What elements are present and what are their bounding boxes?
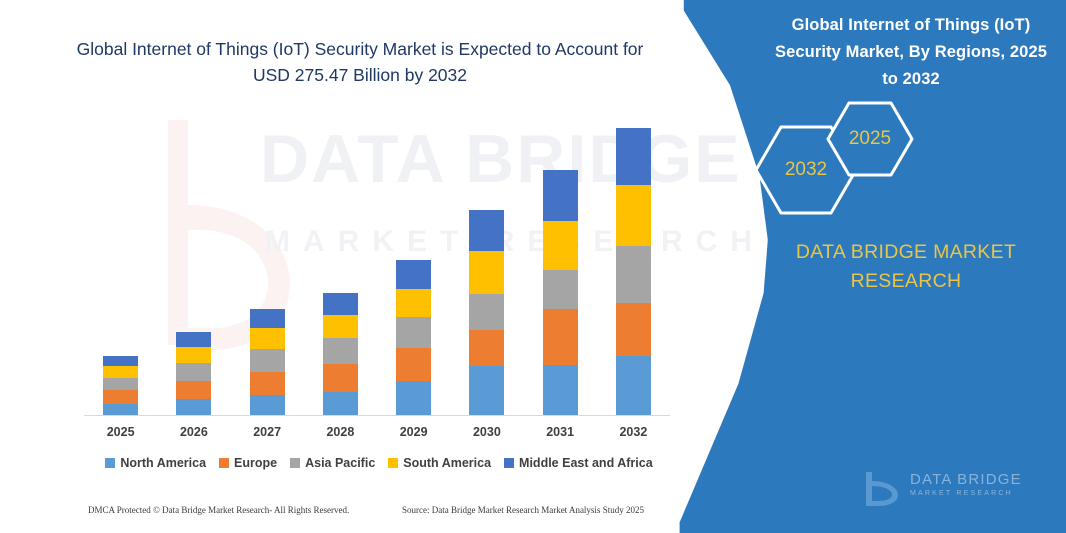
bar-column [307, 293, 373, 415]
hex-label-2025: 2025 [840, 128, 900, 150]
bar-segment [543, 365, 578, 415]
page-title: Global Internet of Things (IoT) Security… [60, 36, 660, 88]
dbmr-logo-text: DATA BRIDGE [910, 471, 1022, 488]
bar-segment [543, 270, 578, 309]
bar-segment [469, 210, 504, 251]
bar-segment [469, 251, 504, 293]
legend-swatch-icon [219, 458, 229, 468]
bar-segment [396, 260, 431, 289]
footer-source: Source: Data Bridge Market Research Mark… [402, 505, 644, 515]
right-panel-content: Global Internet of Things (IoT) Security… [646, 0, 1066, 533]
bar-segment [469, 366, 504, 415]
right-panel-title: Global Internet of Things (IoT) Security… [766, 12, 1056, 93]
bar-column [381, 260, 447, 415]
legend-item[interactable]: Europe [219, 456, 277, 470]
stacked-bar[interactable] [176, 332, 211, 415]
x-axis-tick-label: 2031 [527, 425, 593, 445]
bar-segment [176, 347, 211, 364]
bar-segment [176, 399, 211, 415]
bar-segment [396, 381, 431, 415]
brand-name: DATA BRIDGE MARKET RESEARCH [756, 238, 1056, 296]
x-axis-tick-label: 2030 [454, 425, 520, 445]
bar-segment [250, 328, 285, 349]
chart-area: Global Internet of Things (IoT) Security… [0, 0, 730, 533]
legend-item[interactable]: Asia Pacific [290, 456, 375, 470]
bar-segment [396, 348, 431, 381]
dbmr-logo-subtext: MARKET RESEARCH [910, 490, 1013, 497]
legend-label: North America [120, 456, 206, 470]
stacked-bar[interactable] [323, 293, 358, 415]
brand-line-2: RESEARCH [756, 267, 1056, 296]
bar-segment [323, 293, 358, 315]
bar-group [84, 120, 670, 415]
bar-segment [543, 309, 578, 365]
bar-segment [543, 170, 578, 222]
plot-region [84, 120, 670, 416]
axis-baseline [84, 415, 670, 416]
x-axis-tick-label: 2029 [381, 425, 447, 445]
stacked-bar[interactable] [469, 210, 504, 415]
x-axis-tick-label: 2025 [88, 425, 154, 445]
bar-segment [396, 289, 431, 317]
bar-segment [103, 404, 138, 415]
legend-swatch-icon [290, 458, 300, 468]
footer: DMCA Protected © Data Bridge Market Rese… [0, 505, 700, 525]
brand-line-1: DATA BRIDGE MARKET [756, 238, 1056, 267]
bar-segment [103, 390, 138, 403]
bar-segment [543, 221, 578, 270]
bar-segment [103, 356, 138, 366]
bar-segment [396, 317, 431, 348]
legend-swatch-icon [105, 458, 115, 468]
x-axis-tick-label: 2027 [234, 425, 300, 445]
legend-label: Middle East and Africa [519, 456, 653, 470]
bar-segment [250, 309, 285, 328]
bar-segment [323, 338, 358, 364]
x-axis-labels: 20252026202720282029203020312032 [84, 425, 670, 445]
infographic-root: Global Internet of Things (IoT) Security… [0, 0, 1066, 533]
legend-swatch-icon [504, 458, 514, 468]
bar-segment [323, 315, 358, 339]
dbmr-mark-icon [858, 469, 904, 509]
legend-label: Asia Pacific [305, 456, 375, 470]
x-axis-tick-label: 2028 [307, 425, 373, 445]
bar-segment [176, 332, 211, 346]
chart-legend: North AmericaEuropeAsia PacificSouth Ame… [84, 456, 674, 470]
bar-segment [176, 381, 211, 400]
legend-item[interactable]: North America [105, 456, 206, 470]
bar-segment [250, 349, 285, 372]
stacked-bar[interactable] [543, 170, 578, 415]
dbmr-logo: DATA BRIDGE MARKET RESEARCH [858, 469, 1038, 511]
bar-segment [103, 366, 138, 377]
bar-column [527, 170, 593, 415]
bar-column [454, 210, 520, 415]
x-axis-tick-label: 2026 [161, 425, 227, 445]
legend-item[interactable]: Middle East and Africa [504, 456, 653, 470]
bar-column [234, 309, 300, 415]
stacked-bar[interactable] [103, 356, 138, 415]
bar-segment [250, 372, 285, 396]
stacked-bar[interactable] [396, 260, 431, 415]
legend-item[interactable]: South America [388, 456, 491, 470]
hex-label-2032: 2032 [776, 159, 836, 181]
stacked-bar[interactable] [250, 309, 285, 415]
bar-segment [103, 378, 138, 390]
bar-segment [323, 392, 358, 415]
bar-segment [469, 294, 504, 330]
legend-swatch-icon [388, 458, 398, 468]
legend-label: South America [403, 456, 491, 470]
footer-copyright: DMCA Protected © Data Bridge Market Rese… [88, 505, 349, 515]
bar-segment [323, 364, 358, 392]
legend-label: Europe [234, 456, 277, 470]
bar-segment [250, 395, 285, 415]
bar-column [88, 356, 154, 415]
bar-column [161, 332, 227, 415]
bar-segment [176, 363, 211, 381]
bar-segment [469, 330, 504, 366]
